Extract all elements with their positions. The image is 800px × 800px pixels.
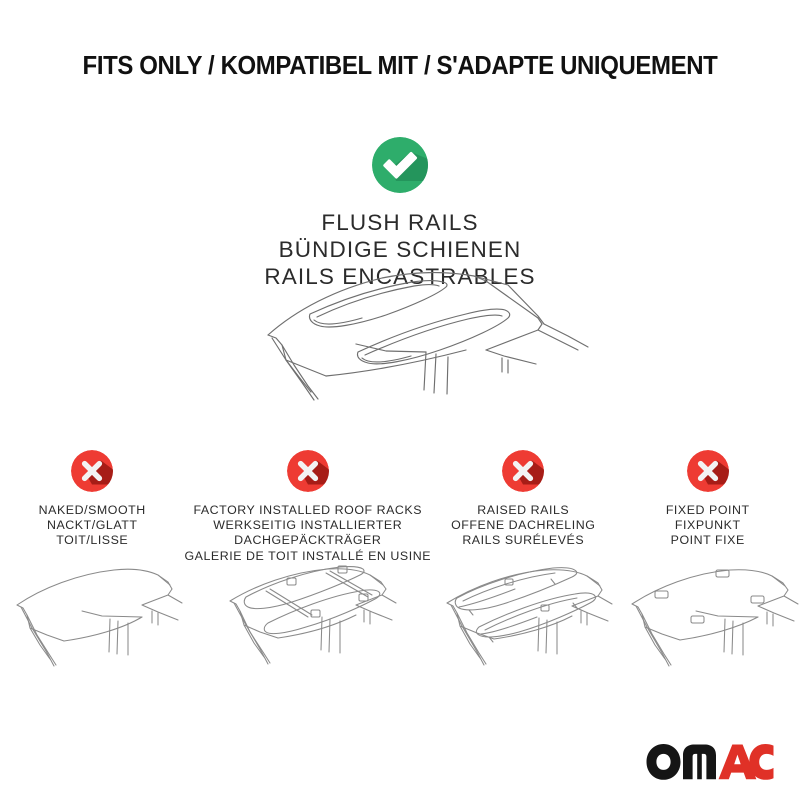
logo-letter-o <box>647 744 681 780</box>
car-roof-raised-rails-illustration <box>423 555 623 680</box>
incompatible-labels: FIXED POINT FIXPUNKT POINT FIXE <box>666 503 750 549</box>
incompatible-label-de: FIXPUNKT <box>666 518 750 533</box>
incompatible-labels: RAISED RAILS OFFENE DACHRELING RAILS SUR… <box>451 503 595 549</box>
incompatible-label-fr: TOIT/LISSE <box>39 533 146 548</box>
car-roof-factory-roof-racks-illustration <box>208 555 408 680</box>
x-circle-icon <box>687 450 729 492</box>
page-title: FITS ONLY / KOMPATIBEL MIT / S'ADAPTE UN… <box>24 52 776 81</box>
car-roof-fixed-point-illustration <box>608 555 800 680</box>
incompatible-label-en: RAISED RAILS <box>451 503 595 518</box>
incompatible-label-fr: POINT FIXE <box>666 533 750 548</box>
incompatible-labels: NAKED/SMOOTH NACKT/GLATT TOIT/LISSE <box>39 503 146 549</box>
incompatible-label-de: OFFENE DACHRELING <box>451 518 595 533</box>
logo-letter-m <box>683 745 716 780</box>
check-circle-icon <box>372 137 428 193</box>
incompatible-label-fr: RAILS SURÉLEVÉS <box>451 533 595 548</box>
compatible-label-de: BÜNDIGE SCHIENEN <box>264 236 535 263</box>
compatible-block: FLUSH RAILS BÜNDIGE SCHIENEN RAILS ENCAS… <box>0 137 800 290</box>
incompatible-item-raised-rails: RAISED RAILS OFFENE DACHRELING RAILS SUR… <box>431 450 615 690</box>
x-circle-icon <box>502 450 544 492</box>
incompatible-item-fixed-point: FIXED POINT FIXPUNKT POINT FIXE <box>616 450 800 690</box>
infographic-page: FITS ONLY / KOMPATIBEL MIT / S'ADAPTE UN… <box>0 0 800 800</box>
incompatible-label-de-1: WERKSEITIG INSTALLIERTER <box>184 518 431 533</box>
omac-logo <box>646 744 774 780</box>
car-roof-flush-rails-illustration <box>186 272 626 437</box>
incompatible-label-de-2: DACHGEPÄCKTRÄGER <box>184 533 431 548</box>
compatible-label-en: FLUSH RAILS <box>264 209 535 236</box>
car-roof-naked-smooth-illustration <box>0 555 192 680</box>
incompatible-item-factory-roof-racks: FACTORY INSTALLED ROOF RACKS WERKSEITIG … <box>184 450 431 690</box>
incompatible-label-en: FIXED POINT <box>666 503 750 518</box>
incompatible-label-en: FACTORY INSTALLED ROOF RACKS <box>184 503 431 518</box>
x-circle-icon <box>71 450 113 492</box>
incompatible-label-en: NAKED/SMOOTH <box>39 503 146 518</box>
incompatible-label-de: NACKT/GLATT <box>39 518 146 533</box>
x-circle-icon <box>287 450 329 492</box>
incompatible-row: NAKED/SMOOTH NACKT/GLATT TOIT/LISSE <box>0 450 800 690</box>
incompatible-item-naked-smooth: NAKED/SMOOTH NACKT/GLATT TOIT/LISSE <box>0 450 184 690</box>
